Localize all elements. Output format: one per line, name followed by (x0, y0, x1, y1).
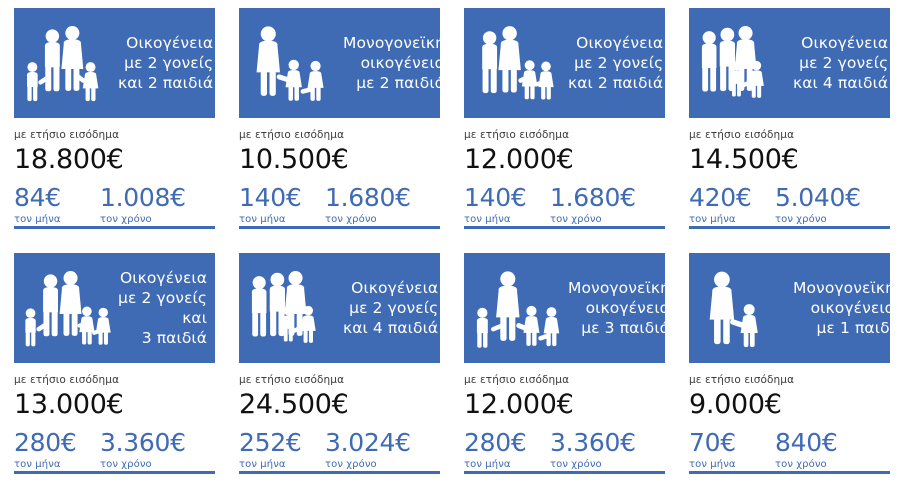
card-title: Μονογονεϊκήοικογένειαμε 2 παιδιά (343, 8, 440, 118)
yearly-benefit: 3.360€ τον χρόνο (550, 429, 665, 471)
card-title-line: με 2 γονείς (574, 53, 663, 73)
card-divider-rule (689, 471, 890, 474)
benefit-values: 280€ τον μήνα 3.360€ τον χρόνο (464, 429, 665, 471)
card-title-line: και 4 παιδιά (793, 73, 888, 93)
card-body: με ετήσιο εισόδημα 12.000€ 140€ τον μήνα… (464, 118, 665, 226)
yearly-benefit-period: τον χρόνο (550, 213, 665, 226)
monthly-benefit: 280€ τον μήνα (14, 429, 100, 471)
yearly-benefit: 3.360€ τον χρόνο (100, 429, 215, 471)
income-label: με ετήσιο εισόδημα (239, 374, 440, 387)
card-header: Οικογένειαμε 2 γονείςκαι 4 παιδιά (239, 253, 440, 363)
income-amount: 24.500€ (239, 388, 440, 421)
card-title-line: Οικογένεια (120, 268, 207, 288)
monthly-benefit-value: 70€ (689, 429, 775, 457)
yearly-benefit: 3.024€ τον χρόνο (325, 429, 440, 471)
benefit-values: 84€ τον μήνα 1.008€ τον χρόνο (14, 184, 215, 226)
income-amount: 18.800€ (14, 143, 215, 176)
benefit-card: Μονογονεϊκήοικογένειαμε 1 παιδί με ετήσι… (675, 245, 900, 490)
benefit-values: 70€ τον μήνα 840€ τον χρόνο (689, 429, 890, 471)
card-title-line: με 2 γονείς (349, 298, 438, 318)
card-divider-rule (14, 226, 215, 229)
card-title: Οικογένειαμε 2 γονείςκαι3 παιδιά (118, 253, 215, 363)
yearly-benefit: 1.008€ τον χρόνο (100, 184, 215, 226)
yearly-benefit-value: 840€ (775, 429, 890, 457)
income-label: με ετήσιο εισόδημα (239, 129, 440, 142)
yearly-benefit-period: τον χρόνο (775, 213, 890, 226)
card-divider-rule (239, 471, 440, 474)
card-title-line: 3 παιδιά (142, 328, 207, 348)
card-title: Μονογονεϊκήοικογένειαμε 1 παιδί (793, 253, 890, 363)
monthly-benefit-period: τον μήνα (14, 213, 100, 226)
benefit-values: 252€ τον μήνα 3.024€ τον χρόνο (239, 429, 440, 471)
benefit-values: 140€ τον μήνα 1.680€ τον χρόνο (464, 184, 665, 226)
yearly-benefit: 1.680€ τον χρόνο (550, 184, 665, 226)
single-parent-three-children-icon (464, 253, 568, 363)
card-divider-rule (464, 471, 665, 474)
card-title-line: Οικογένεια (801, 33, 888, 53)
monthly-benefit: 140€ τον μήνα (239, 184, 325, 226)
monthly-benefit-period: τον μήνα (464, 213, 550, 226)
benefit-card: Οικογένειαμε 2 γονείςκαι 4 παιδιά με ετή… (675, 0, 900, 245)
card-title: Οικογένειαμε 2 γονείςκαι 2 παιδιά (118, 8, 215, 118)
card-body: με ετήσιο εισόδημα 14.500€ 420€ τον μήνα… (689, 118, 890, 226)
yearly-benefit-value: 1.680€ (550, 184, 665, 212)
card-body: με ετήσιο εισόδημα 18.800€ 84€ τον μήνα … (14, 118, 215, 226)
single-parent-two-children-icon (239, 8, 343, 118)
income-amount: 13.000€ (14, 388, 215, 421)
yearly-benefit-value: 3.360€ (550, 429, 665, 457)
income-label: με ετήσιο εισόδημα (689, 374, 890, 387)
income-amount: 12.000€ (464, 388, 665, 421)
income-amount: 14.500€ (689, 143, 890, 176)
card-title-line: με 2 γονείς (799, 53, 888, 73)
yearly-benefit: 1.680€ τον χρόνο (325, 184, 440, 226)
card-title: Οικογένειαμε 2 γονείςκαι 4 παιδιά (793, 8, 890, 118)
monthly-benefit: 420€ τον μήνα (689, 184, 775, 226)
yearly-benefit-value: 1.008€ (100, 184, 215, 212)
card-title-line: με 3 παιδιά (581, 318, 665, 338)
monthly-benefit-period: τον μήνα (239, 458, 325, 471)
card-title-line: και (182, 308, 207, 328)
card-title-line: οικογένεια (586, 298, 665, 318)
benefit-values: 140€ τον μήνα 1.680€ τον χρόνο (239, 184, 440, 226)
card-body: με ετήσιο εισόδημα 10.500€ 140€ τον μήνα… (239, 118, 440, 226)
card-title-line: Μονογονεϊκή (793, 278, 890, 298)
yearly-benefit-period: τον χρόνο (100, 213, 215, 226)
family-benefit-card-grid: Οικογένειαμε 2 γονείςκαι 2 παιδιά με ετή… (0, 0, 900, 490)
monthly-benefit-period: τον μήνα (239, 213, 325, 226)
yearly-benefit-period: τον χρόνο (775, 458, 890, 471)
card-header: Μονογονεϊκήοικογένειαμε 1 παιδί (689, 253, 890, 363)
card-title-line: Μονογονεϊκή (568, 278, 665, 298)
yearly-benefit-period: τον χρόνο (325, 213, 440, 226)
card-divider-rule (14, 471, 215, 474)
yearly-benefit-period: τον χρόνο (100, 458, 215, 471)
card-title-line: Οικογένεια (351, 278, 438, 298)
card-header: Οικογένειαμε 2 γονείςκαι 2 παιδιά (14, 8, 215, 118)
yearly-benefit-value: 1.680€ (325, 184, 440, 212)
card-title-line: Μονογονεϊκή (343, 33, 440, 53)
income-label: με ετήσιο εισόδημα (689, 129, 890, 142)
card-body: με ετήσιο εισόδημα 12.000€ 280€ τον μήνα… (464, 363, 665, 471)
income-label: με ετήσιο εισόδημα (464, 129, 665, 142)
card-title-line: και 4 παιδιά (343, 318, 438, 338)
card-title-line: οικογένεια (361, 53, 440, 73)
card-header: Μονογονεϊκήοικογένειαμε 2 παιδιά (239, 8, 440, 118)
monthly-benefit: 252€ τον μήνα (239, 429, 325, 471)
yearly-benefit: 840€ τον χρόνο (775, 429, 890, 471)
card-header: Μονογονεϊκήοικογένειαμε 3 παιδιά (464, 253, 665, 363)
card-divider-rule (239, 226, 440, 229)
benefit-card: Μονογονεϊκήοικογένειαμε 2 παιδιά με ετήσ… (225, 0, 450, 245)
benefit-card: Οικογένειαμε 2 γονείςκαι 2 παιδιά με ετή… (0, 0, 225, 245)
monthly-benefit-value: 280€ (464, 429, 550, 457)
benefit-card: Μονογονεϊκήοικογένειαμε 3 παιδιά με ετήσ… (450, 245, 675, 490)
card-divider-rule (689, 226, 890, 229)
income-label: με ετήσιο εισόδημα (14, 374, 215, 387)
single-parent-one-child-icon (689, 253, 793, 363)
card-title-line: Οικογένεια (576, 33, 663, 53)
yearly-benefit: 5.040€ τον χρόνο (775, 184, 890, 226)
yearly-benefit-value: 3.360€ (100, 429, 215, 457)
monthly-benefit-value: 420€ (689, 184, 775, 212)
card-title-line: και 2 παιδιά (568, 73, 663, 93)
monthly-benefit: 280€ τον μήνα (464, 429, 550, 471)
card-header: Οικογένειαμε 2 γονείςκαι3 παιδιά (14, 253, 215, 363)
monthly-benefit-value: 140€ (239, 184, 325, 212)
card-title-line: με 2 παιδιά (356, 73, 440, 93)
benefit-values: 420€ τον μήνα 5.040€ τον χρόνο (689, 184, 890, 226)
yearly-benefit-value: 5.040€ (775, 184, 890, 212)
card-body: με ετήσιο εισόδημα 24.500€ 252€ τον μήνα… (239, 363, 440, 471)
card-divider-rule (464, 226, 665, 229)
family-two-parents-two-children-icon (14, 8, 118, 118)
benefit-card: Οικογένειαμε 2 γονείςκαι3 παιδιά με ετήσ… (0, 245, 225, 490)
monthly-benefit-value: 84€ (14, 184, 100, 212)
family-two-parents-four-children-alt-icon (239, 253, 343, 363)
card-title: Μονογονεϊκήοικογένειαμε 3 παιδιά (568, 253, 665, 363)
monthly-benefit: 70€ τον μήνα (689, 429, 775, 471)
monthly-benefit-period: τον μήνα (689, 213, 775, 226)
monthly-benefit: 140€ τον μήνα (464, 184, 550, 226)
monthly-benefit-value: 280€ (14, 429, 100, 457)
card-title-line: οικογένεια (811, 298, 890, 318)
monthly-benefit-value: 140€ (464, 184, 550, 212)
family-two-parents-four-children-icon (689, 8, 793, 118)
yearly-benefit-value: 3.024€ (325, 429, 440, 457)
family-two-parents-two-children-alt-icon (464, 8, 568, 118)
card-title: Οικογένειαμε 2 γονείςκαι 4 παιδιά (343, 253, 440, 363)
card-title-line: με 2 γονείς (118, 288, 207, 308)
income-amount: 10.500€ (239, 143, 440, 176)
income-label: με ετήσιο εισόδημα (14, 129, 215, 142)
card-title-line: με 1 παιδί (817, 318, 890, 338)
card-title-line: με 2 γονείς (124, 53, 213, 73)
card-title-line: και 2 παιδιά (118, 73, 213, 93)
monthly-benefit-period: τον μήνα (689, 458, 775, 471)
income-amount: 12.000€ (464, 143, 665, 176)
card-body: με ετήσιο εισόδημα 13.000€ 280€ τον μήνα… (14, 363, 215, 471)
card-title: Οικογένειαμε 2 γονείςκαι 2 παιδιά (568, 8, 665, 118)
income-amount: 9.000€ (689, 388, 890, 421)
yearly-benefit-period: τον χρόνο (325, 458, 440, 471)
monthly-benefit: 84€ τον μήνα (14, 184, 100, 226)
card-body: με ετήσιο εισόδημα 9.000€ 70€ τον μήνα 8… (689, 363, 890, 471)
card-title-line: Οικογένεια (126, 33, 213, 53)
monthly-benefit-period: τον μήνα (14, 458, 100, 471)
benefit-values: 280€ τον μήνα 3.360€ τον χρόνο (14, 429, 215, 471)
benefit-card: Οικογένειαμε 2 γονείςκαι 4 παιδιά με ετή… (225, 245, 450, 490)
family-two-parents-three-children-icon (14, 253, 118, 363)
income-label: με ετήσιο εισόδημα (464, 374, 665, 387)
card-header: Οικογένειαμε 2 γονείςκαι 2 παιδιά (464, 8, 665, 118)
card-header: Οικογένειαμε 2 γονείςκαι 4 παιδιά (689, 8, 890, 118)
monthly-benefit-period: τον μήνα (464, 458, 550, 471)
monthly-benefit-value: 252€ (239, 429, 325, 457)
benefit-card: Οικογένειαμε 2 γονείςκαι 2 παιδιά με ετή… (450, 0, 675, 245)
yearly-benefit-period: τον χρόνο (550, 458, 665, 471)
